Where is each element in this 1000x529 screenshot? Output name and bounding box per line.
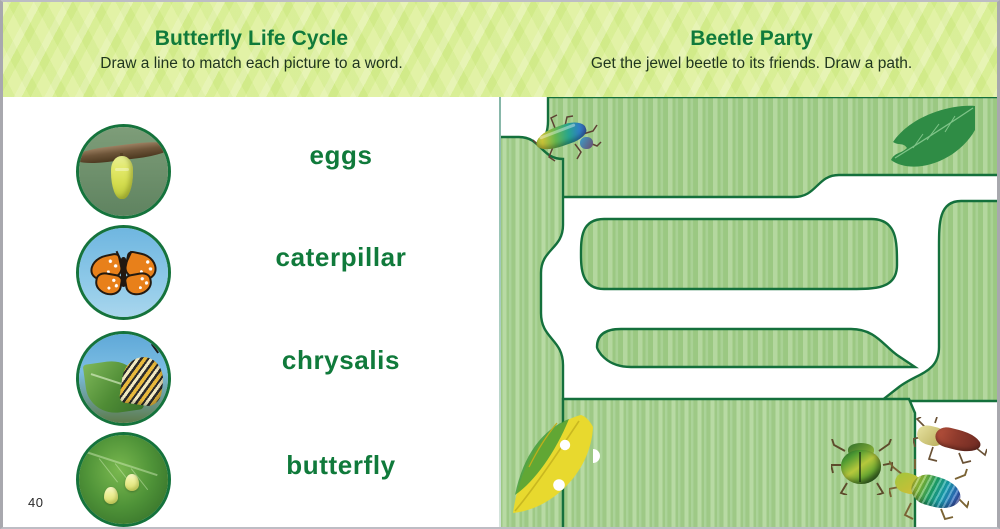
rainbow-leaf-beetle[interactable]: [889, 459, 969, 521]
green-leaf: [883, 102, 979, 180]
picture-circle-caterpillar[interactable]: [76, 331, 171, 426]
green-scarab-beetle[interactable]: [831, 439, 893, 495]
picture-circle-chrysalis[interactable]: [76, 124, 171, 219]
header-band: Butterfly Life Cycle Draw a line to matc…: [3, 2, 1000, 97]
scarab-body: [841, 450, 881, 484]
maze-wall-middle-upper: [581, 219, 897, 289]
right-page-maze: [501, 97, 1000, 529]
butterfly-wing-lower-left: [93, 270, 123, 296]
egg-1: [104, 487, 118, 504]
chewed-yellow-leaf: [509, 409, 601, 521]
butterfly-body: [121, 257, 126, 286]
left-activity-header: Butterfly Life Cycle Draw a line to matc…: [3, 2, 500, 97]
right-activity-title: Beetle Party: [690, 28, 813, 49]
butterfly-wing-lower-right: [123, 270, 153, 296]
eggs-photo: [79, 435, 168, 524]
activity-book-page: Butterfly Life Cycle Draw a line to matc…: [0, 0, 1000, 529]
left-activity-title: Butterfly Life Cycle: [155, 28, 348, 49]
right-activity-header: Beetle Party Get the jewel beetle to its…: [500, 2, 1000, 97]
page-number: 40: [28, 495, 43, 510]
maze-wall-middle-lower: [597, 329, 915, 367]
word-option-caterpillar[interactable]: caterpillar: [183, 244, 499, 270]
caterpillar-shape: [119, 355, 166, 408]
egg-2: [125, 474, 139, 491]
caterpillar-photo: [79, 334, 168, 423]
right-activity-instruction: Get the jewel beetle to its friends. Dra…: [591, 56, 912, 72]
butterfly-photo: [79, 228, 168, 317]
word-option-eggs[interactable]: eggs: [183, 142, 499, 168]
maze-wall-right-column: [881, 201, 1000, 401]
word-option-butterfly[interactable]: butterfly: [183, 452, 499, 478]
click-beetle[interactable]: [913, 417, 987, 465]
picture-circle-butterfly[interactable]: [76, 225, 171, 320]
picture-circle-eggs[interactable]: [76, 432, 171, 527]
jewel-beetle[interactable]: [531, 114, 603, 164]
left-page: eggs caterpillar chrysalis butterfly: [3, 97, 499, 529]
chrysalis-shape: [111, 156, 133, 199]
chrysalis-photo: [79, 127, 168, 216]
word-option-chrysalis[interactable]: chrysalis: [183, 347, 499, 373]
left-activity-instruction: Draw a line to match each picture to a w…: [100, 56, 402, 72]
jewel-beetle-head: [580, 137, 593, 149]
